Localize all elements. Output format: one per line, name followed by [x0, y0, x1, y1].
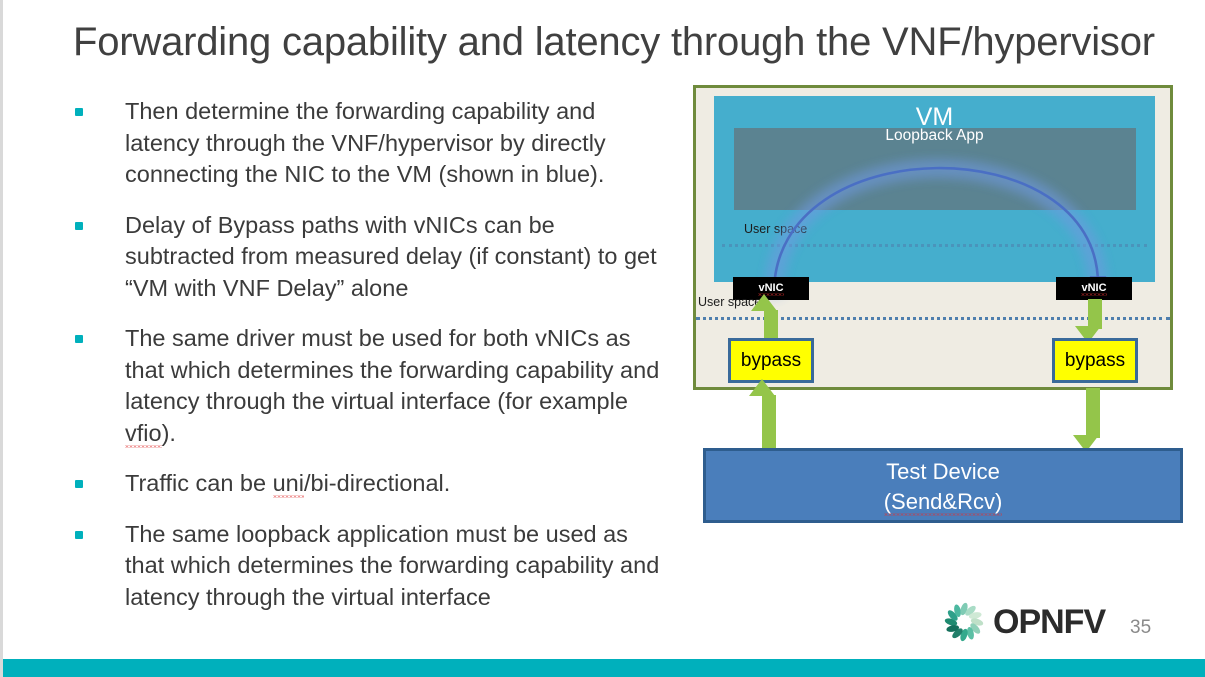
bottom-accent-bar: [3, 659, 1205, 677]
bullet-dot-icon: [75, 335, 83, 343]
arrow-vnic-to-bypass-right: [1088, 299, 1102, 329]
vm-user-space-label: User space: [744, 222, 807, 236]
architecture-diagram: VM Loopback App User space vNIC: [693, 85, 1173, 390]
opnfv-wordmark: OPNFV: [993, 603, 1105, 642]
vnic-label: vNIC: [1081, 282, 1106, 296]
petal-burst-icon: [941, 600, 987, 644]
bullet-text: The same driver must be used for both vN…: [125, 325, 659, 448]
bullet-text: Then determine the forwarding capability…: [125, 98, 606, 187]
arrow-bypass-left-to-vnic: [764, 310, 778, 341]
bullet-text: Traffic can be uni/bi-directional.: [125, 470, 450, 498]
vm-kernel-boundary-divider: [722, 244, 1147, 247]
test-device-title: Test Device: [706, 457, 1180, 487]
list-item: The same driver must be used for both vN…: [65, 323, 665, 449]
bullet-dot-icon: [75, 108, 83, 116]
vnic-right: vNIC: [1056, 277, 1132, 300]
vm-box: VM Loopback App User space: [714, 96, 1155, 282]
arrow-testdevice-to-bypass-left: [762, 395, 776, 450]
loopback-app-label: Loopback App: [714, 127, 1155, 145]
list-item: Then determine the forwarding capability…: [65, 96, 665, 191]
bullet-text: The same loopback application must be us…: [125, 521, 659, 610]
bypass-label: bypass: [741, 350, 801, 371]
opnfv-logo: OPNFV: [941, 600, 1105, 644]
arrow-head-up-icon: [751, 294, 777, 311]
bypass-box-left: bypass: [728, 338, 814, 383]
arrow-head-up-icon: [749, 379, 775, 396]
opnfv-petal-mark-icon: [941, 600, 987, 644]
list-item: The same loopback application must be us…: [65, 519, 665, 614]
bullet-list: Then determine the forwarding capability…: [65, 96, 665, 632]
test-device-box: Test Device (Send&Rcv): [703, 448, 1183, 523]
bypass-box-right: bypass: [1052, 338, 1138, 383]
bullet-dot-icon: [75, 222, 83, 230]
page-title: Forwarding capability and latency throug…: [73, 16, 1183, 68]
bypass-label: bypass: [1065, 350, 1125, 371]
bullet-text: Delay of Bypass paths with vNICs can be …: [125, 212, 657, 301]
test-device-subtitle: (Send&Rcv): [884, 489, 1003, 516]
slide-number: 35: [1130, 617, 1151, 639]
bullet-dot-icon: [75, 531, 83, 539]
slide: Forwarding capability and latency throug…: [0, 0, 1205, 677]
bullet-dot-icon: [75, 480, 83, 488]
list-item: Traffic can be uni/bi-directional.: [65, 468, 665, 500]
list-item: Delay of Bypass paths with vNICs can be …: [65, 210, 665, 305]
arrow-bypass-right-to-testdevice: [1086, 388, 1100, 438]
